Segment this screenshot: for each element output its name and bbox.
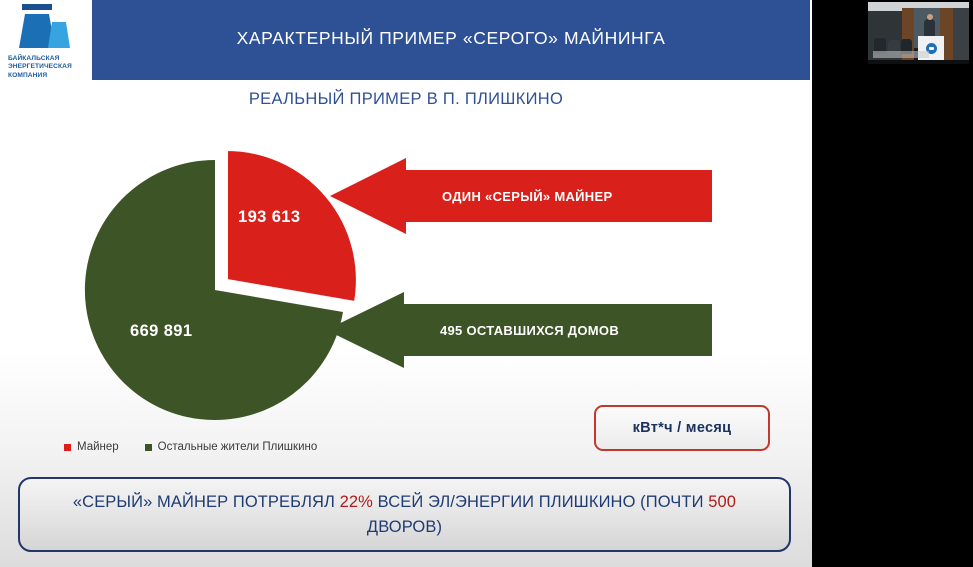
callout-label-houses: 495 ОСТАВШИХСЯ ДОМОВ [440, 292, 619, 368]
legend-swatch-miner [64, 444, 71, 451]
callout-label-miner: ОДИН «СЕРЫЙ» МАЙНЕР [442, 158, 612, 234]
video-wall-right [953, 8, 969, 64]
screen: ХАРАКТЕРНЫЙ ПРИМЕР «СЕРОГО» МАЙНИНГА БАЙ… [0, 0, 973, 567]
pie-value-residents: 669 891 [130, 322, 192, 341]
video-bottom-bar [868, 60, 969, 64]
slide-header-band: ХАРАКТЕРНЫЙ ПРИМЕР «СЕРОГО» МАЙНИНГА [92, 0, 810, 80]
legend-label-residents: Остальные жители Плишкино [158, 441, 318, 453]
slide-subtitle: РЕАЛЬНЫЙ ПРИМЕР В П. ПЛИШКИНО [0, 90, 812, 109]
video-speaker-head [927, 14, 933, 20]
slide-title: ХАРАКТЕРНЫЙ ПРИМЕР «СЕРОГО» МАЙНИНГА [92, 0, 810, 80]
unit-badge: кВт*ч / месяц [594, 405, 770, 451]
cooling-tower-icon [8, 4, 82, 54]
cooling-tower-svg [8, 4, 82, 54]
pie-legend: Майнер Остальные жители Плишкино [64, 441, 317, 453]
company-logo: БАЙКАЛЬСКАЯ ЭНЕРГЕТИЧЕСКАЯ КОМПАНИЯ [0, 0, 92, 84]
conclusion-box: «СЕРЫЙ» МАЙНЕР ПОТРЕБЛЯЛ 22% ВСЕЙ ЭЛ/ЭНЕ… [18, 477, 791, 552]
video-caption-overlay [873, 51, 929, 58]
logo-line-1: БАЙКАЛЬСКАЯ [8, 55, 86, 63]
logo-line-2: ЭНЕРГЕТИЧЕСКАЯ [8, 63, 86, 71]
logo-line-3: КОМПАНИЯ [8, 72, 86, 80]
presenter-video-thumbnail[interactable] [868, 2, 969, 64]
conclusion-part-1: «СЕРЫЙ» МАЙНЕР ПОТРЕБЛЯЛ [73, 493, 340, 511]
legend-item-residents: Остальные жители Плишкино [145, 441, 318, 453]
conclusion-part-3: ДВОРОВ) [367, 518, 442, 536]
video-speaker [924, 19, 935, 37]
conclusion-part-2: ВСЕЙ ЭЛ/ЭНЕРГИИ ПЛИШКИНО (ПОЧТИ [373, 493, 708, 511]
legend-label-miner: Майнер [77, 441, 119, 453]
legend-swatch-residents [145, 444, 152, 451]
callout-arrow-houses: 495 ОСТАВШИХСЯ ДОМОВ [326, 292, 712, 368]
callout-arrow-miner: ОДИН «СЕРЫЙ» МАЙНЕР [330, 158, 712, 234]
conclusion-highlight-count: 500 [708, 493, 736, 511]
legend-item-miner: Майнер [64, 441, 119, 453]
company-logo-text: БАЙКАЛЬСКАЯ ЭНЕРГЕТИЧЕСКАЯ КОМПАНИЯ [8, 55, 86, 80]
presentation-slide: ХАРАКТЕРНЫЙ ПРИМЕР «СЕРОГО» МАЙНИНГА БАЙ… [0, 0, 812, 567]
conclusion-highlight-percent: 22% [340, 493, 373, 511]
pie-value-miner: 193 613 [238, 208, 300, 227]
conclusion-text: «СЕРЫЙ» МАЙНЕР ПОТРЕБЛЯЛ 22% ВСЕЙ ЭЛ/ЭНЕ… [42, 490, 767, 540]
